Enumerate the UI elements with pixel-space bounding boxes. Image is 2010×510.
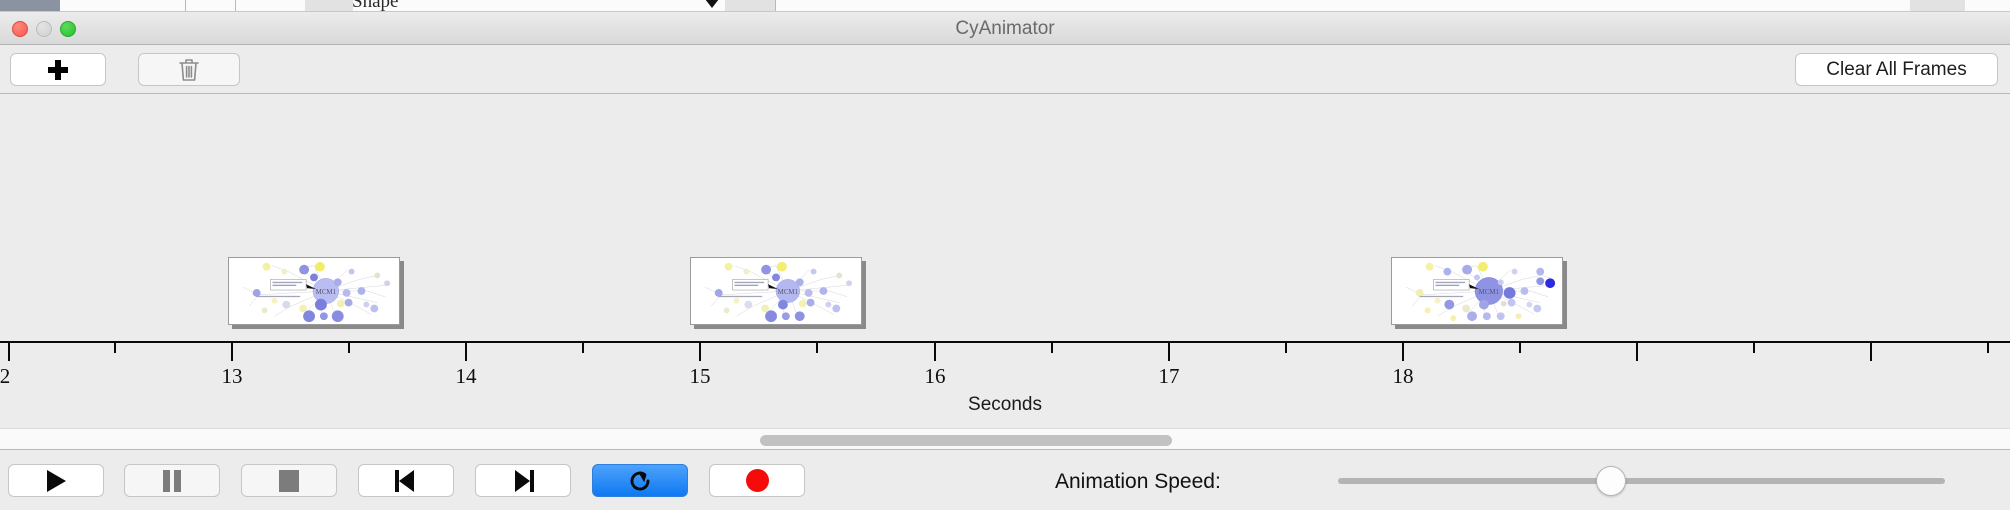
keyframe-thumbnail[interactable]: MCM1 xyxy=(228,257,404,329)
axis-tick-major xyxy=(8,343,10,361)
background-sidebar xyxy=(0,0,60,12)
axis-label: 18 xyxy=(1393,364,1414,389)
axis-tick-major xyxy=(1636,343,1638,361)
window-title: CyAnimator xyxy=(0,18,2010,40)
timeline-panel[interactable]: MCM1 xyxy=(0,94,2010,428)
svg-text:MCM1: MCM1 xyxy=(778,289,799,296)
pause-icon xyxy=(162,470,182,492)
axis-label: 15 xyxy=(690,364,711,389)
axis-label: 17 xyxy=(1159,364,1180,389)
network-preview: MCM1 xyxy=(229,258,399,324)
axis-tick-minor xyxy=(348,343,350,353)
plus-icon xyxy=(48,60,68,80)
add-frame-button[interactable] xyxy=(10,53,106,86)
axis-label: 2 xyxy=(0,364,10,389)
axis-label: 14 xyxy=(456,364,477,389)
axis-tick-major xyxy=(699,343,701,361)
axis-tick-major xyxy=(1402,343,1404,361)
title-bar: CyAnimator xyxy=(0,12,2010,45)
loop-button[interactable] xyxy=(592,464,688,497)
slider-thumb[interactable] xyxy=(1596,466,1626,496)
background-app-strip: Shape xyxy=(0,0,2010,12)
keyframe-thumbnail[interactable]: MCM1 xyxy=(1391,257,1567,329)
keyframe-thumbnail[interactable]: MCM1 xyxy=(690,257,866,329)
previous-frame-button[interactable] xyxy=(358,464,454,497)
axis-tick-minor xyxy=(1519,343,1521,353)
scrollbar-thumb[interactable] xyxy=(760,435,1172,446)
axis-title: Seconds xyxy=(0,394,2010,416)
svg-text:MCM1: MCM1 xyxy=(1479,289,1500,296)
skip-forward-icon xyxy=(512,470,534,492)
axis-tick-minor xyxy=(114,343,116,353)
animation-speed-slider[interactable] xyxy=(1338,478,1945,484)
axis-tick-minor xyxy=(816,343,818,353)
axis-label: 16 xyxy=(925,364,946,389)
pause-button[interactable] xyxy=(124,464,220,497)
timeline-axis-line xyxy=(0,341,2010,343)
keyframe-card: MCM1 xyxy=(228,257,400,325)
axis-tick-minor xyxy=(582,343,584,353)
axis-tick-minor xyxy=(1051,343,1053,353)
background-field xyxy=(1910,0,1965,12)
keyframe-card: MCM1 xyxy=(1391,257,1563,325)
background-marker xyxy=(705,0,719,8)
frame-toolbar: Clear All Frames xyxy=(0,45,2010,94)
network-preview: MCM1 xyxy=(1392,258,1562,324)
background-field xyxy=(725,0,775,12)
axis-tick-major xyxy=(231,343,233,361)
record-button[interactable] xyxy=(709,464,805,497)
next-frame-button[interactable] xyxy=(475,464,571,497)
keyframe-card: MCM1 xyxy=(690,257,862,325)
svg-text:MCM1: MCM1 xyxy=(316,289,337,296)
network-preview: MCM1 xyxy=(691,258,861,324)
background-app-label: Shape xyxy=(352,0,398,12)
animation-speed-label: Animation Speed: xyxy=(1055,470,1221,494)
play-button[interactable] xyxy=(8,464,104,497)
background-divider xyxy=(185,0,186,12)
skip-back-icon xyxy=(395,470,417,492)
axis-tick-major xyxy=(465,343,467,361)
axis-tick-minor xyxy=(1753,343,1755,353)
record-icon xyxy=(746,469,769,492)
axis-tick-major xyxy=(934,343,936,361)
clear-all-frames-button[interactable]: Clear All Frames xyxy=(1795,53,1998,86)
axis-tick-major xyxy=(1168,343,1170,361)
stop-icon xyxy=(279,470,299,492)
axis-label: 13 xyxy=(222,364,243,389)
background-field xyxy=(305,0,353,12)
background-divider xyxy=(235,0,236,12)
trash-icon xyxy=(178,57,200,83)
play-icon xyxy=(47,470,66,492)
cyanimator-window: CyAnimator Clear All Frames xyxy=(0,12,2010,510)
slider-track[interactable] xyxy=(1338,478,1945,484)
timeline-scrollbar[interactable] xyxy=(0,428,2010,450)
loop-icon xyxy=(627,468,653,494)
axis-tick-minor xyxy=(1285,343,1287,353)
axis-tick-minor xyxy=(1987,343,1989,353)
playback-toolbar: Animation Speed: xyxy=(0,450,2010,510)
axis-tick-major xyxy=(1870,343,1872,361)
delete-frame-button[interactable] xyxy=(138,53,240,86)
stop-button[interactable] xyxy=(241,464,337,497)
background-divider xyxy=(775,0,776,12)
